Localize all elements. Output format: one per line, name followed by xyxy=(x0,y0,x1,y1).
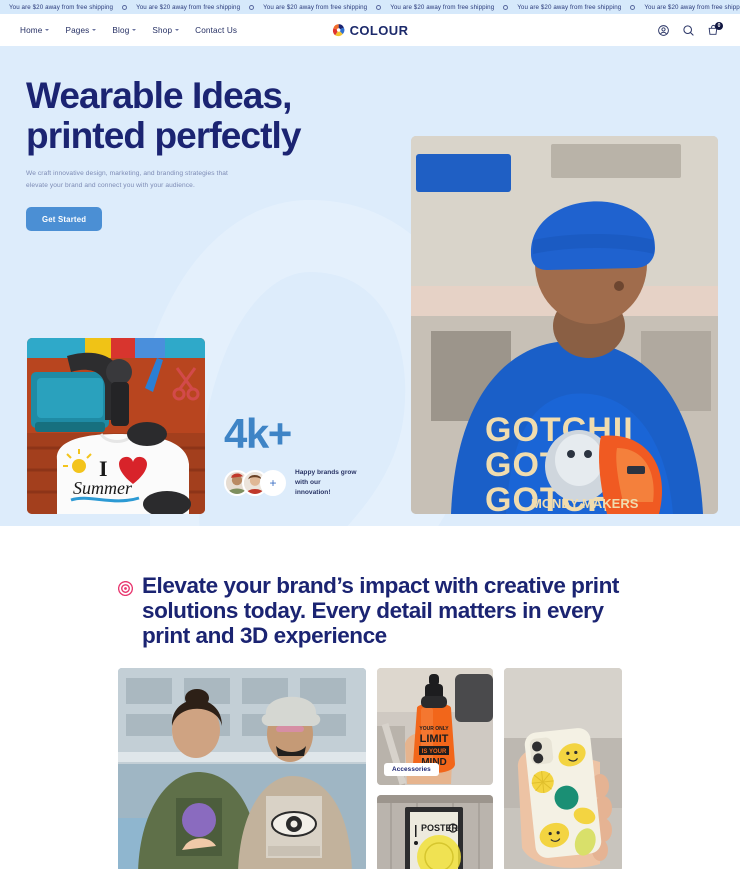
gallery-tag-accessories: Accessories xyxy=(384,763,439,776)
gallery-item-models[interactable] xyxy=(118,668,366,869)
hero-title-line-1: Wearable Ideas, xyxy=(26,75,292,116)
avatar-add-more[interactable]: + xyxy=(260,470,286,496)
announcement-message: You are $20 away from free shipping xyxy=(0,4,122,11)
header-icon-group: 0 xyxy=(657,24,720,37)
chevron-down-icon xyxy=(132,29,136,31)
colour-pinwheel-logo-icon xyxy=(332,23,346,37)
nav-item-label: Home xyxy=(20,26,42,35)
nav-item-label: Contact Us xyxy=(195,26,237,35)
stats-block: 4k+ + Happy brands grow with our innovat… xyxy=(224,414,394,498)
nav-item-label: Pages xyxy=(65,26,89,35)
announcement-message: You are $20 away from free shipping xyxy=(127,4,249,11)
page-title: Wearable Ideas, printed perfectly xyxy=(26,76,386,155)
announcement-track: You are $20 away from free shippingYou a… xyxy=(0,4,740,11)
svg-text:YOUR ONLY: YOUR ONLY xyxy=(419,726,449,732)
nav-item-blog[interactable]: Blog xyxy=(112,26,136,35)
stat-row: + Happy brands grow with our innovation! xyxy=(224,468,394,498)
nav-item-label: Blog xyxy=(112,26,129,35)
hero-title-line-2: printed perfectly xyxy=(26,115,301,156)
cart-icon[interactable]: 0 xyxy=(707,24,720,37)
site-header: HomePagesBlogShopContact Us COLOUR xyxy=(0,14,740,46)
svg-text:LIMIT: LIMIT xyxy=(420,733,449,745)
chevron-down-icon xyxy=(45,29,49,31)
chevron-down-icon xyxy=(92,29,96,31)
announcement-bar: You are $20 away from free shippingYou a… xyxy=(0,0,740,14)
hero-main-image: GOTCHII GOTCHII GOTCHII MONEY MAKERS xyxy=(411,136,718,514)
gallery-item-poster[interactable]: POSTER xyxy=(377,795,493,869)
logo-text: COLOUR xyxy=(350,23,409,38)
stat-caption: Happy brands grow with our innovation! xyxy=(295,468,357,498)
features-section: Elevate your brand’s impact with creativ… xyxy=(0,526,740,869)
nav-item-contact-us[interactable]: Contact Us xyxy=(195,26,237,35)
hero-subtitle: We craft innovative design, marketing, a… xyxy=(26,168,241,191)
search-icon[interactable] xyxy=(682,24,695,37)
account-icon[interactable] xyxy=(657,24,670,37)
gallery-column-right xyxy=(504,668,622,869)
svg-text:Summer: Summer xyxy=(73,478,133,498)
features-gallery: YOUR ONLY LIMIT IS YOUR MIND Accessories xyxy=(0,668,740,869)
site-logo[interactable]: COLOUR xyxy=(332,23,409,38)
announcement-message: You are $20 away from free shipping xyxy=(635,4,740,11)
nav-item-pages[interactable]: Pages xyxy=(65,26,96,35)
cart-count-badge: 0 xyxy=(715,22,723,30)
gallery-item-bottle[interactable]: YOUR ONLY LIMIT IS YOUR MIND Accessories xyxy=(377,668,493,785)
main-navigation: HomePagesBlogShopContact Us xyxy=(20,26,237,35)
hero-section: Wearable Ideas, printed perfectly We cra… xyxy=(0,46,740,526)
gallery-column-left xyxy=(118,668,366,869)
svg-text:MONEY MAKERS: MONEY MAKERS xyxy=(531,496,639,511)
nav-item-label: Shop xyxy=(152,26,172,35)
features-heading-row: Elevate your brand’s impact with creativ… xyxy=(0,574,740,648)
chevron-down-icon xyxy=(175,29,179,31)
target-icon xyxy=(118,574,133,596)
hero-secondary-image: I Summer xyxy=(27,338,205,514)
features-title: Elevate your brand’s impact with creativ… xyxy=(142,574,622,648)
nav-item-home[interactable]: Home xyxy=(20,26,49,35)
announcement-message: You are $20 away from free shipping xyxy=(381,4,503,11)
nav-item-shop[interactable]: Shop xyxy=(152,26,179,35)
get-started-button[interactable]: Get Started xyxy=(26,207,102,231)
announcement-message: You are $20 away from free shipping xyxy=(508,4,630,11)
avatar-group: + xyxy=(224,470,286,496)
svg-text:IS YOUR: IS YOUR xyxy=(422,749,447,755)
gallery-column-middle: YOUR ONLY LIMIT IS YOUR MIND Accessories xyxy=(377,668,493,869)
announcement-message: You are $20 away from free shipping xyxy=(254,4,376,11)
stat-number: 4k+ xyxy=(224,414,394,454)
gallery-item-phone-case[interactable] xyxy=(504,668,622,869)
